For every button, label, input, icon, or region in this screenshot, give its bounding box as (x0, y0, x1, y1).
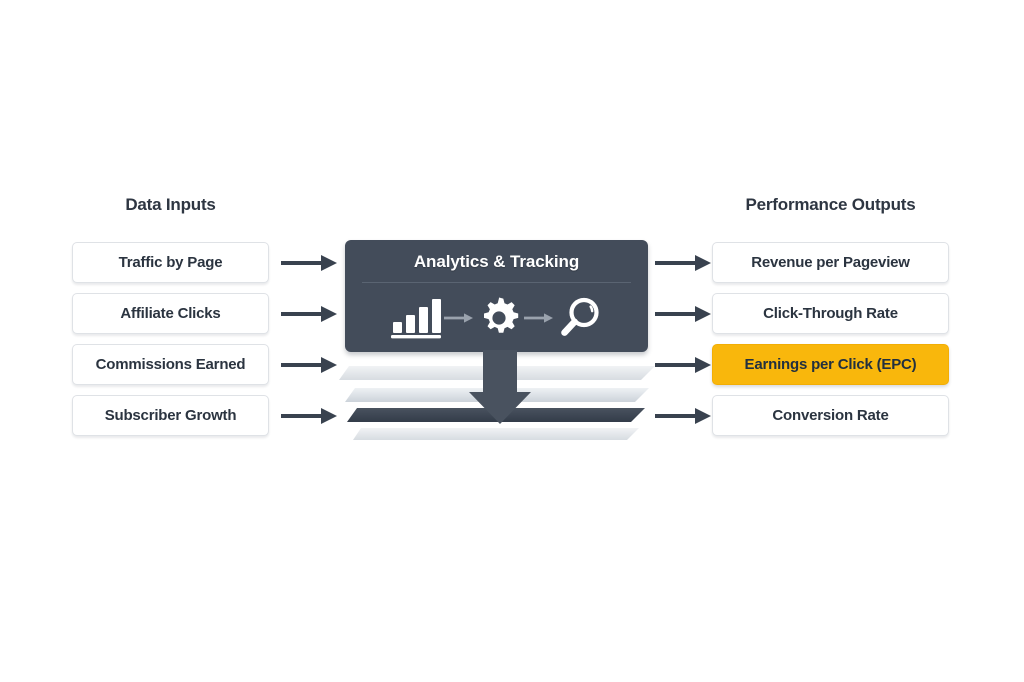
output-node-revenue-per-pageview[interactable]: Revenue per Pageview (712, 242, 949, 283)
input-node-label: Affiliate Clicks (120, 305, 220, 322)
central-panel-title: Analytics & Tracking (345, 252, 648, 272)
arrow-right-icon (281, 303, 339, 325)
output-node-label: Earnings per Click (EPC) (745, 356, 917, 373)
input-node-label: Subscriber Growth (105, 407, 237, 424)
arrow-right-icon (655, 354, 713, 376)
arrow-right-icon (655, 303, 713, 325)
input-node-affiliate-clicks[interactable]: Affiliate Clicks (72, 293, 269, 334)
bar-chart-icon (390, 296, 442, 340)
output-node-earnings-per-click[interactable]: Earnings per Click (EPC) (712, 344, 949, 385)
diagram-canvas: Data Inputs Performance Outputs Traffic … (0, 0, 1024, 682)
output-node-click-through-rate[interactable]: Click-Through Rate (712, 293, 949, 334)
arrow-right-small-icon (442, 309, 476, 327)
input-node-traffic-by-page[interactable]: Traffic by Page (72, 242, 269, 283)
panel-icon-row (345, 290, 648, 346)
input-node-label: Commissions Earned (96, 356, 246, 373)
inputs-column-heading: Data Inputs (72, 195, 269, 215)
output-node-label: Revenue per Pageview (751, 254, 910, 271)
central-process-panel: Analytics & Tracking (345, 240, 648, 352)
output-node-label: Conversion Rate (772, 407, 888, 424)
outputs-column-heading: Performance Outputs (712, 195, 949, 215)
arrow-right-icon (281, 354, 339, 376)
input-node-label: Traffic by Page (119, 254, 223, 271)
arrow-right-icon (655, 405, 713, 427)
funnel-layers (335, 350, 665, 448)
arrow-right-icon (281, 405, 339, 427)
gear-icon (476, 295, 522, 341)
arrow-right-small-icon (522, 309, 556, 327)
magnifier-icon (556, 294, 604, 342)
output-node-label: Click-Through Rate (763, 305, 898, 322)
arrow-right-icon (655, 252, 713, 274)
input-node-commissions-earned[interactable]: Commissions Earned (72, 344, 269, 385)
panel-divider (362, 282, 631, 283)
funnel-layer (353, 428, 639, 440)
arrow-right-icon (281, 252, 339, 274)
output-node-conversion-rate[interactable]: Conversion Rate (712, 395, 949, 436)
input-node-subscriber-growth[interactable]: Subscriber Growth (72, 395, 269, 436)
